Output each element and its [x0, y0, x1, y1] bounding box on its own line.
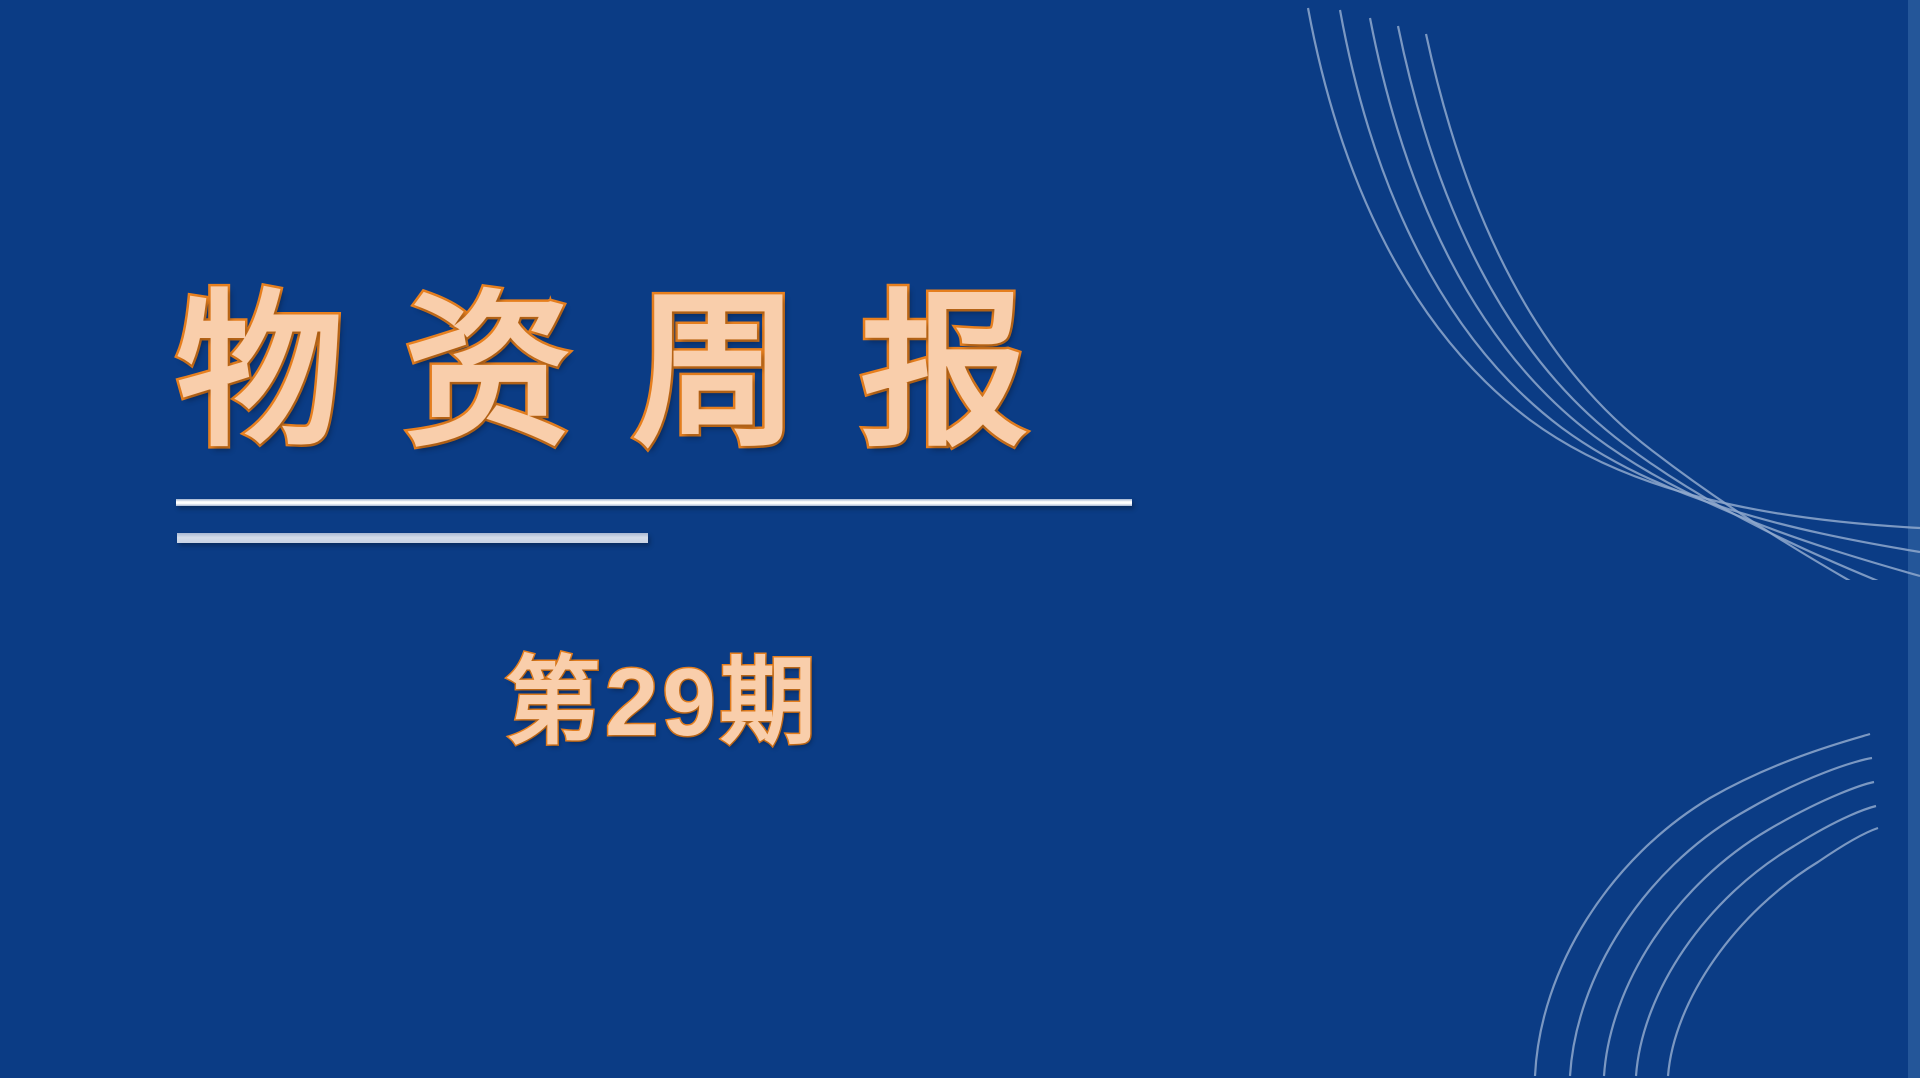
wave-line-1	[1308, 8, 1920, 528]
bottom-wave-line-4	[1636, 806, 1876, 1076]
wave-line-4	[1398, 26, 1920, 580]
top-right-wave-lines	[1300, 0, 1920, 580]
bottom-wave-line-3	[1604, 782, 1874, 1076]
wave-line-5	[1426, 34, 1920, 580]
divider-line-long	[176, 499, 1132, 506]
right-edge-strip	[1908, 0, 1920, 1078]
bottom-right-wave-lines	[1460, 718, 1920, 1078]
bottom-wave-line-5	[1668, 828, 1878, 1076]
divider-line-short	[177, 533, 648, 543]
cover-slide: 物资周报 第29期	[0, 0, 1920, 1078]
subtitle-block: 第29期	[505, 648, 1005, 758]
title-block: 物资周报	[176, 282, 1176, 463]
bottom-wave-line-2	[1570, 758, 1872, 1076]
issue-number-label: 第29期	[505, 648, 1005, 758]
wave-line-3	[1370, 18, 1920, 576]
bottom-wave-line-1	[1535, 734, 1870, 1076]
page-title: 物资周报	[176, 282, 1176, 463]
wave-line-2	[1340, 10, 1920, 552]
